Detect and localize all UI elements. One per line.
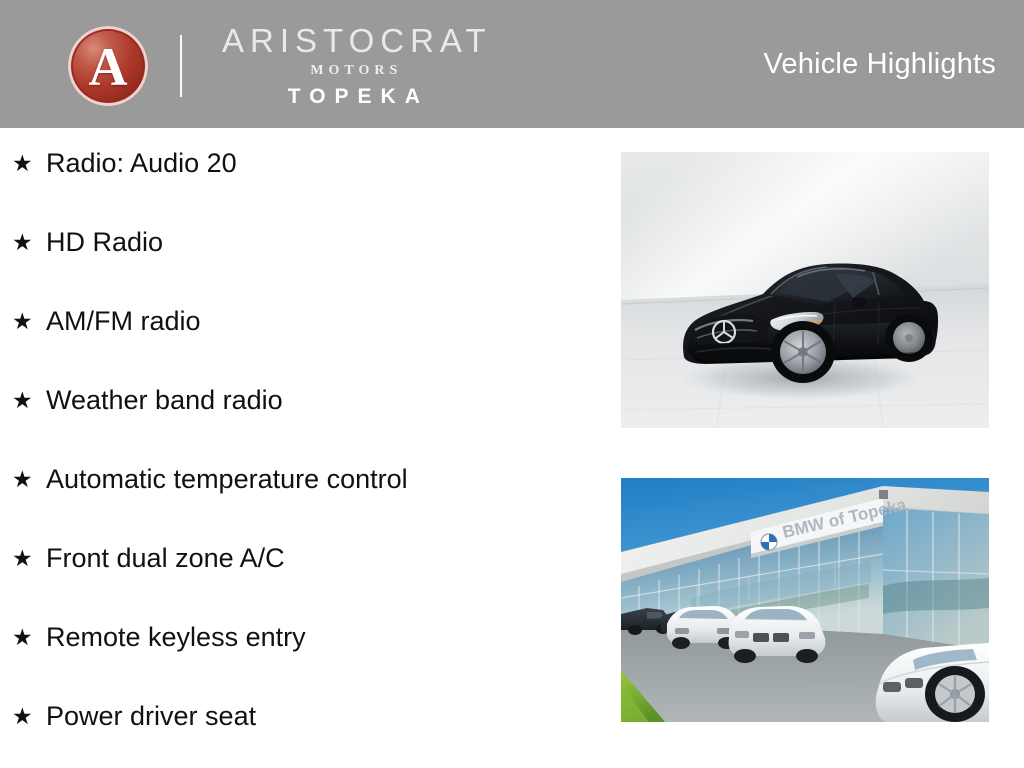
star-bullet-icon: ★ xyxy=(12,543,34,573)
feature-label: Remote keyless entry xyxy=(34,622,600,652)
star-bullet-icon: ★ xyxy=(12,148,34,178)
feature-item: ★Front dual zone A/C xyxy=(0,543,600,622)
vehicle-photo: Black Mercedes-Benz C-Class sedan, front… xyxy=(621,152,989,428)
vehicle-feature-list: ★Radio: Audio 20★HD Radio★AM/FM radio★We… xyxy=(0,148,600,768)
brand-name: ARISTOCRAT xyxy=(216,24,492,57)
header-bar: A ARISTOCRAT MOTORS TOPEKA Vehicle Highl… xyxy=(0,0,1024,128)
emblem-letter: A xyxy=(89,40,128,94)
brand-subtitle: MOTORS xyxy=(305,64,402,78)
brand-wordmark: ARISTOCRAT MOTORS TOPEKA xyxy=(216,24,492,109)
dealership-photo: BMW of Topeka xyxy=(621,478,989,722)
star-bullet-icon: ★ xyxy=(12,385,34,415)
feature-item: ★Radio: Audio 20 xyxy=(0,148,600,227)
feature-label: Weather band radio xyxy=(34,385,600,415)
feature-item: ★Weather band radio xyxy=(0,385,600,464)
slide-canvas: A ARISTOCRAT MOTORS TOPEKA Vehicle Highl… xyxy=(0,0,1024,768)
star-bullet-icon: ★ xyxy=(12,464,34,494)
feature-item: ★Remote keyless entry xyxy=(0,622,600,701)
feature-label: Front dual zone A/C xyxy=(34,543,600,573)
feature-label: AM/FM radio xyxy=(34,306,600,336)
feature-item: ★AM/FM radio xyxy=(0,306,600,385)
page-title: Vehicle Highlights xyxy=(763,48,996,81)
aristocrat-emblem-icon: A xyxy=(68,26,148,106)
feature-item: ★HD Radio xyxy=(0,227,600,306)
feature-label: HD Radio xyxy=(34,227,600,257)
brand-lockup: A ARISTOCRAT MOTORS TOPEKA xyxy=(68,26,492,106)
star-bullet-icon: ★ xyxy=(12,306,34,336)
feature-item: ★Power driver seat xyxy=(0,701,600,768)
brand-city: TOPEKA xyxy=(279,86,429,107)
feature-label: Automatic temperature control xyxy=(34,464,600,494)
star-bullet-icon: ★ xyxy=(12,701,34,731)
feature-label: Power driver seat xyxy=(34,701,600,731)
feature-label: Radio: Audio 20 xyxy=(34,148,600,178)
brand-divider xyxy=(180,35,182,97)
star-bullet-icon: ★ xyxy=(12,227,34,257)
feature-item: ★Automatic temperature control xyxy=(0,464,600,543)
star-bullet-icon: ★ xyxy=(12,622,34,652)
